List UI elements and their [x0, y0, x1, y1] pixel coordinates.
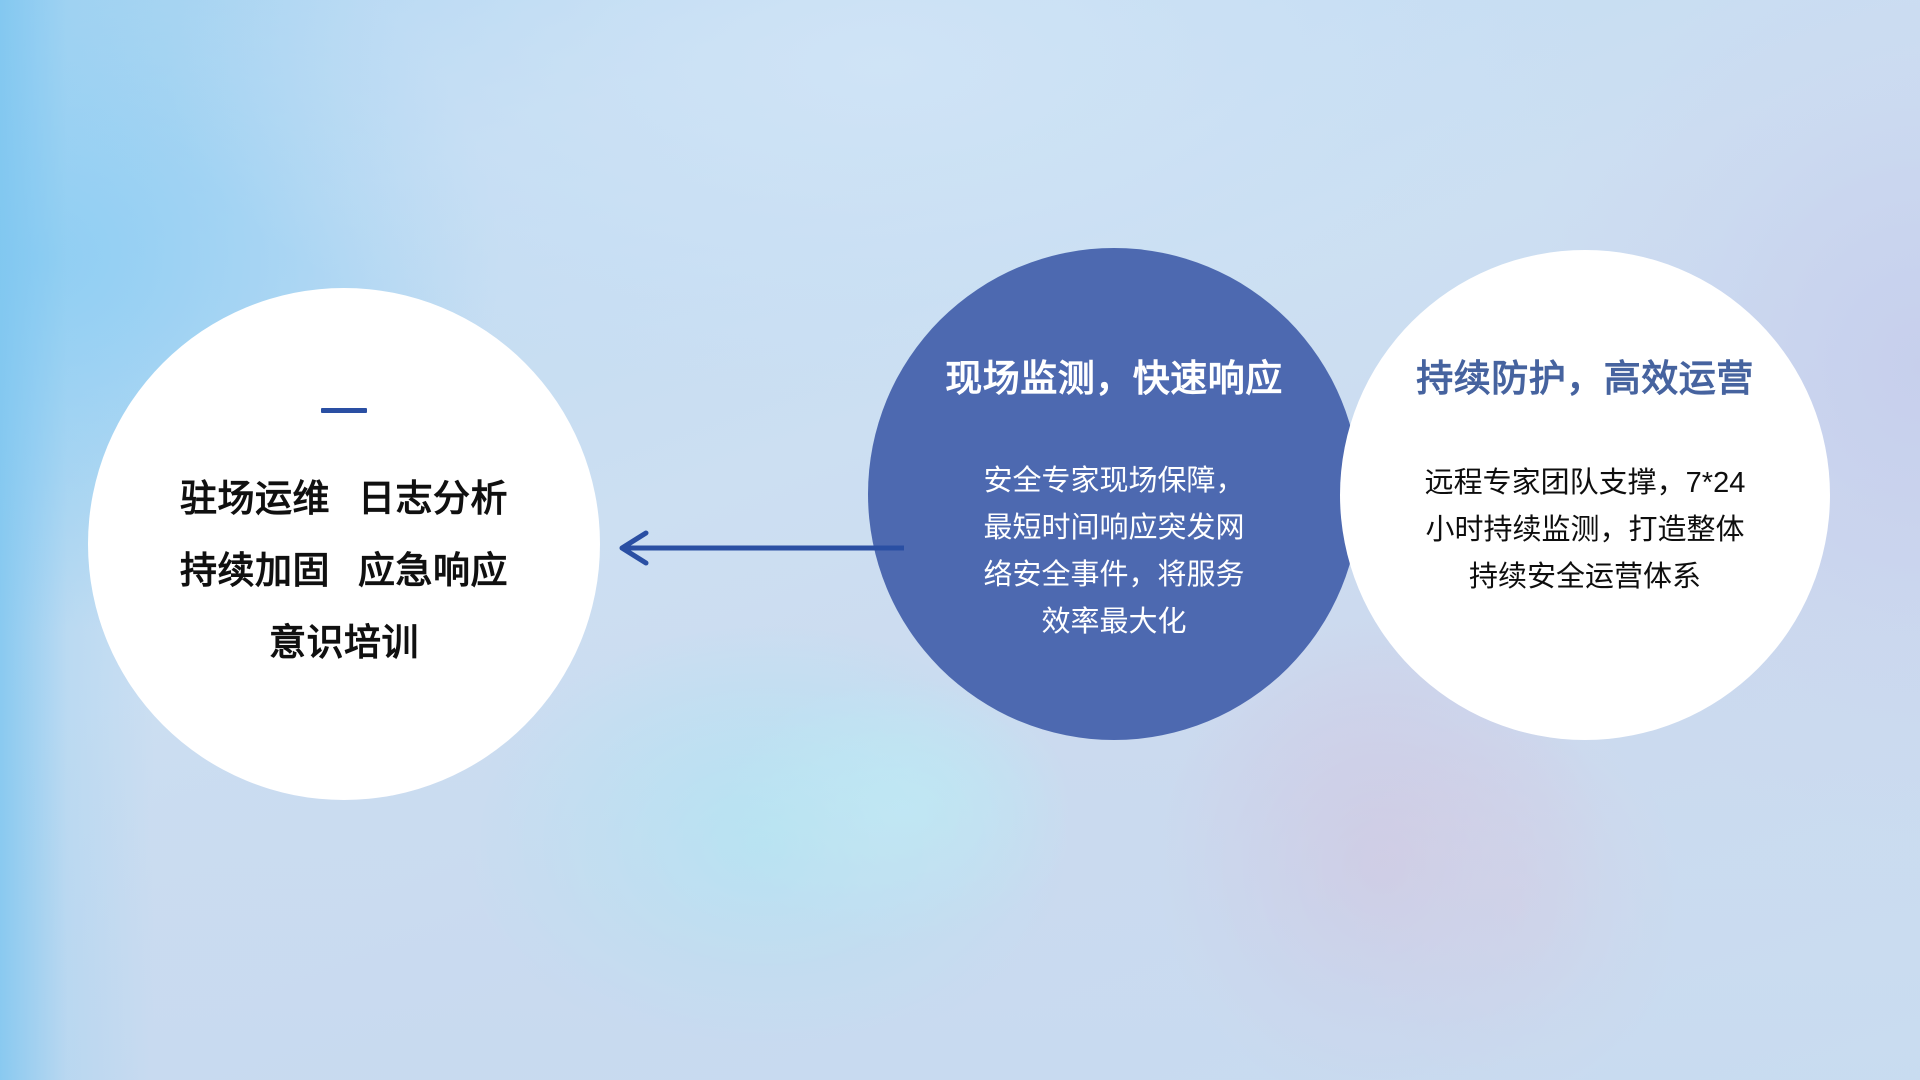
keyword-item: 持续加固: [180, 550, 330, 591]
middle-circle-body: 安全专家现场保障， 最短时间响应突发网 络安全事件，将服务 效率最大化: [964, 458, 1264, 646]
middle-onsite-circle[interactable]: 现场监测，快速响应 安全专家现场保障， 最短时间响应突发网 络安全事件，将服务 …: [868, 248, 1360, 740]
body-line: 持续安全运营体系: [1380, 554, 1790, 601]
keyword-item: 驻场运维: [180, 478, 330, 519]
body-line: 小时持续监测，打造整体: [1380, 507, 1790, 554]
right-circle-body: 远程专家团队支撑，7*24 小时持续监测，打造整体 持续安全运营体系: [1380, 460, 1790, 601]
body-line: 安全专家现场保障，: [964, 458, 1264, 505]
left-capability-circle[interactable]: 驻场运维日志分析 持续加固应急响应 意识培训: [88, 288, 600, 800]
keyword-item: 日志分析: [358, 478, 508, 519]
left-keyword-list: 驻场运维日志分析 持续加固应急响应 意识培训: [180, 463, 508, 679]
right-circle-title: 持续防护，高效运营: [1416, 348, 1754, 402]
body-line: 络安全事件，将服务: [964, 552, 1264, 599]
arrow-left-icon: [608, 520, 908, 576]
middle-circle-title: 现场监测，快速响应: [945, 348, 1283, 402]
body-line: 最短时间响应突发网: [964, 505, 1264, 552]
body-line: 效率最大化: [964, 599, 1264, 646]
keyword-item: 意识培训: [269, 622, 419, 663]
keyword-row: 驻场运维日志分析: [180, 463, 508, 535]
body-line: 远程专家团队支撑，7*24: [1380, 460, 1790, 507]
right-operations-circle[interactable]: 持续防护，高效运营 远程专家团队支撑，7*24 小时持续监测，打造整体 持续安全…: [1340, 250, 1830, 740]
keyword-row: 意识培训: [180, 607, 508, 679]
keyword-row: 持续加固应急响应: [180, 535, 508, 607]
slide-canvas: 驻场运维日志分析 持续加固应急响应 意识培训 现场监测，快速响应 安全专家现场保…: [0, 0, 1920, 1080]
divider-dash: [321, 408, 367, 413]
keyword-item: 应急响应: [358, 550, 508, 591]
